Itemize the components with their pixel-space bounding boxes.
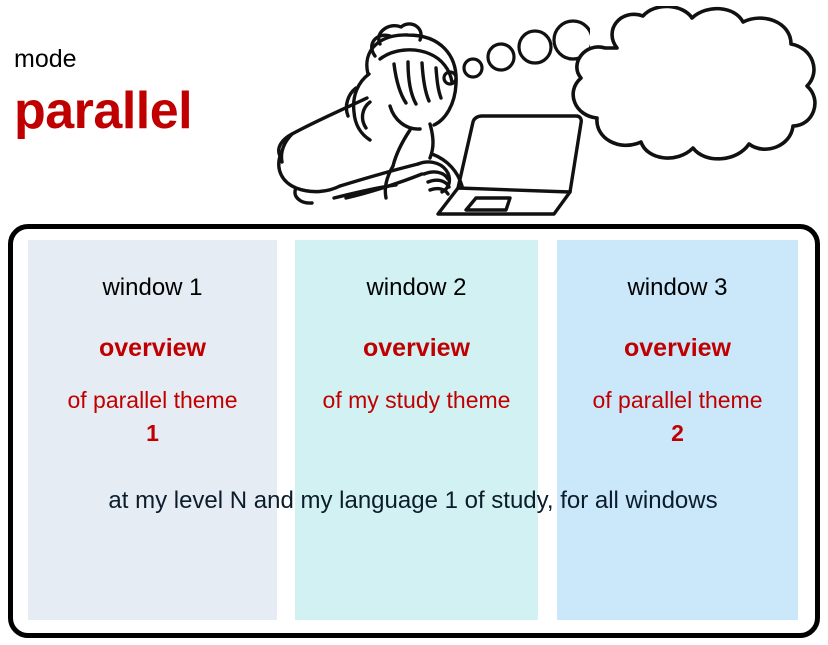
window-panel-1-subtitle: of parallel theme 1 xyxy=(28,384,277,451)
diagram-canvas: mode parallel xyxy=(0,0,828,645)
header-zone: mode parallel xyxy=(0,0,828,224)
window-panel-1-title: window 1 xyxy=(28,276,277,300)
window-panel-2-subtitle-prefix: of my study theme xyxy=(323,387,511,413)
windows-shared-caption: at my level N and my language 1 of study… xyxy=(28,484,798,518)
window-panel-3-subtitle-emph: 2 xyxy=(671,420,684,446)
window-panel-3-subtitle: of parallel theme 2 xyxy=(557,384,798,451)
mode-value: parallel xyxy=(14,85,192,137)
window-panel-2-subtitle: of my study theme xyxy=(295,384,538,417)
window-panel-2-overview-label: overview xyxy=(295,336,538,361)
window-panel-2-title: window 2 xyxy=(295,276,538,300)
thought-bubble: I learn better by comparison xyxy=(555,6,828,168)
window-panel-3-subtitle-prefix: of parallel theme xyxy=(592,387,762,413)
window-panel-1-subtitle-prefix: of parallel theme xyxy=(67,387,237,413)
window-panel-2[interactable]: window 2 overview of my study theme xyxy=(295,240,538,620)
window-panel-1-overview-label: overview xyxy=(28,336,277,361)
window-panel-1[interactable]: window 1 overview of parallel theme 1 xyxy=(28,240,277,620)
window-panel-1-subtitle-emph: 1 xyxy=(146,420,159,446)
window-panel-3[interactable]: window 3 overview of parallel theme 2 xyxy=(557,240,798,620)
window-panel-3-overview-label: overview xyxy=(557,336,798,361)
mode-label: mode xyxy=(14,47,77,72)
window-panel-3-title: window 3 xyxy=(557,276,798,300)
